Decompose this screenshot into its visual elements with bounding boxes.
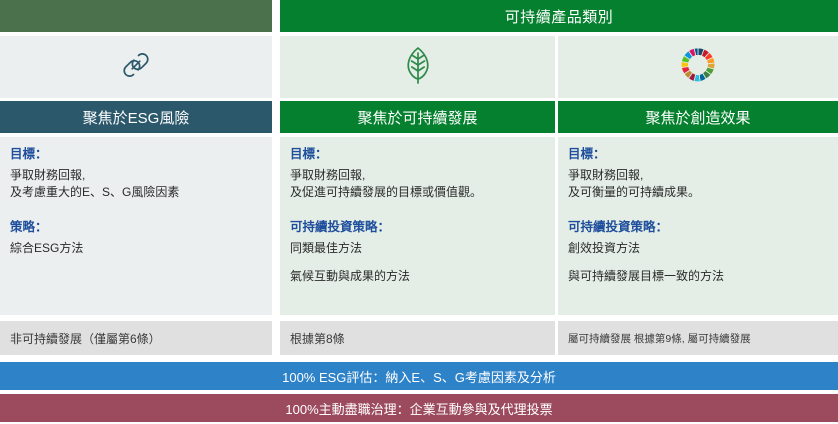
banner-label: 100% ESG評估：納入E、S、G考慮因素及分析 [282, 367, 556, 386]
section-heading-strategy: 可持續投資策略： [290, 219, 545, 236]
section-line: 氣候互動與成果的方法 [290, 268, 545, 285]
column-header-label: 聚焦於創造效果 [645, 107, 750, 128]
column-body-impact: 目標： 爭取財務回報, 及可衡量的可持續成果。 可持續投資策略： 創效投資方法 … [558, 137, 838, 315]
footnote-cell-impact: 屬可持續發展 根據第9條, 屬可持續發展 [558, 321, 838, 355]
footnote-text: 屬可持續發展 根據第9條, 屬可持續發展 [568, 331, 751, 346]
sustainable-product-categories-diagram: 可持續產品類別 [0, 0, 838, 424]
section-heading-strategy: 可持續投資策略： [568, 219, 828, 236]
column-header-esg-risk[interactable]: 聚焦於ESG風險 [0, 101, 272, 133]
section-line: 爭取財務回報, [568, 167, 828, 184]
header-title-bar: 可持續產品類別 [280, 0, 838, 32]
section-heading-objective: 目標： [568, 146, 828, 163]
section-heading-strategy: 策略： [10, 219, 262, 236]
footnote-cell-sustainable-development: 根據第8條 [280, 321, 555, 355]
icon-band [0, 36, 838, 98]
banner-label: 100%主動盡職治理：企業互動參與及代理投票 [285, 399, 552, 418]
section-line: 創效投資方法 [568, 240, 828, 257]
section-line: 及考慮重大的E、S、G風險因素 [10, 184, 262, 201]
sdg-wheel-icon [677, 44, 719, 91]
column-header-label: 聚焦於可持續發展 [357, 107, 477, 128]
chain-link-icon [116, 45, 156, 90]
footnote-text: 非可持續發展（僅屬第6條） [10, 330, 161, 347]
section-line: 及可衡量的可持續成果。 [568, 184, 828, 201]
column-header-sustainable-development[interactable]: 聚焦於可持續發展 [280, 101, 555, 133]
section-line: 爭取財務回報, [290, 167, 545, 184]
section-heading-objective: 目標： [10, 146, 262, 163]
icon-cell-sustainable-development [280, 36, 555, 98]
column-header-label: 聚焦於ESG風險 [83, 107, 190, 128]
column-body-esg-risk: 目標： 爭取財務回報, 及考慮重大的E、S、G風險因素 策略： 綜合ESG方法 [0, 137, 272, 315]
footnote-cell-esg-risk: 非可持續發展（僅屬第6條） [0, 321, 272, 355]
section-line: 及促進可持續發展的目標或價值觀。 [290, 184, 545, 201]
column-body-sustainable-development: 目標： 爭取財務回報, 及促進可持續發展的目標或價值觀。 可持續投資策略： 同類… [280, 137, 555, 315]
banner-esg-assessment: 100% ESG評估：納入E、S、G考慮因素及分析 [0, 362, 838, 390]
leaf-icon [398, 44, 438, 91]
icon-cell-impact [558, 36, 838, 98]
banner-stewardship: 100%主動盡職治理：企業互動參與及代理投票 [0, 394, 838, 422]
top-banner-row: 可持續產品類別 [0, 0, 838, 32]
top-left-filler-block [0, 0, 272, 32]
icon-cell-esg-risk [0, 36, 272, 98]
column-header-impact[interactable]: 聚焦於創造效果 [558, 101, 838, 133]
section-heading-objective: 目標： [290, 146, 545, 163]
section-line: 與可持續發展目標一致的方法 [568, 268, 828, 285]
section-line: 同類最佳方法 [290, 240, 545, 257]
footnote-text: 根據第8條 [290, 330, 345, 347]
section-line: 爭取財務回報, [10, 167, 262, 184]
page-title: 可持續產品類別 [505, 6, 614, 27]
section-line: 綜合ESG方法 [10, 240, 262, 257]
